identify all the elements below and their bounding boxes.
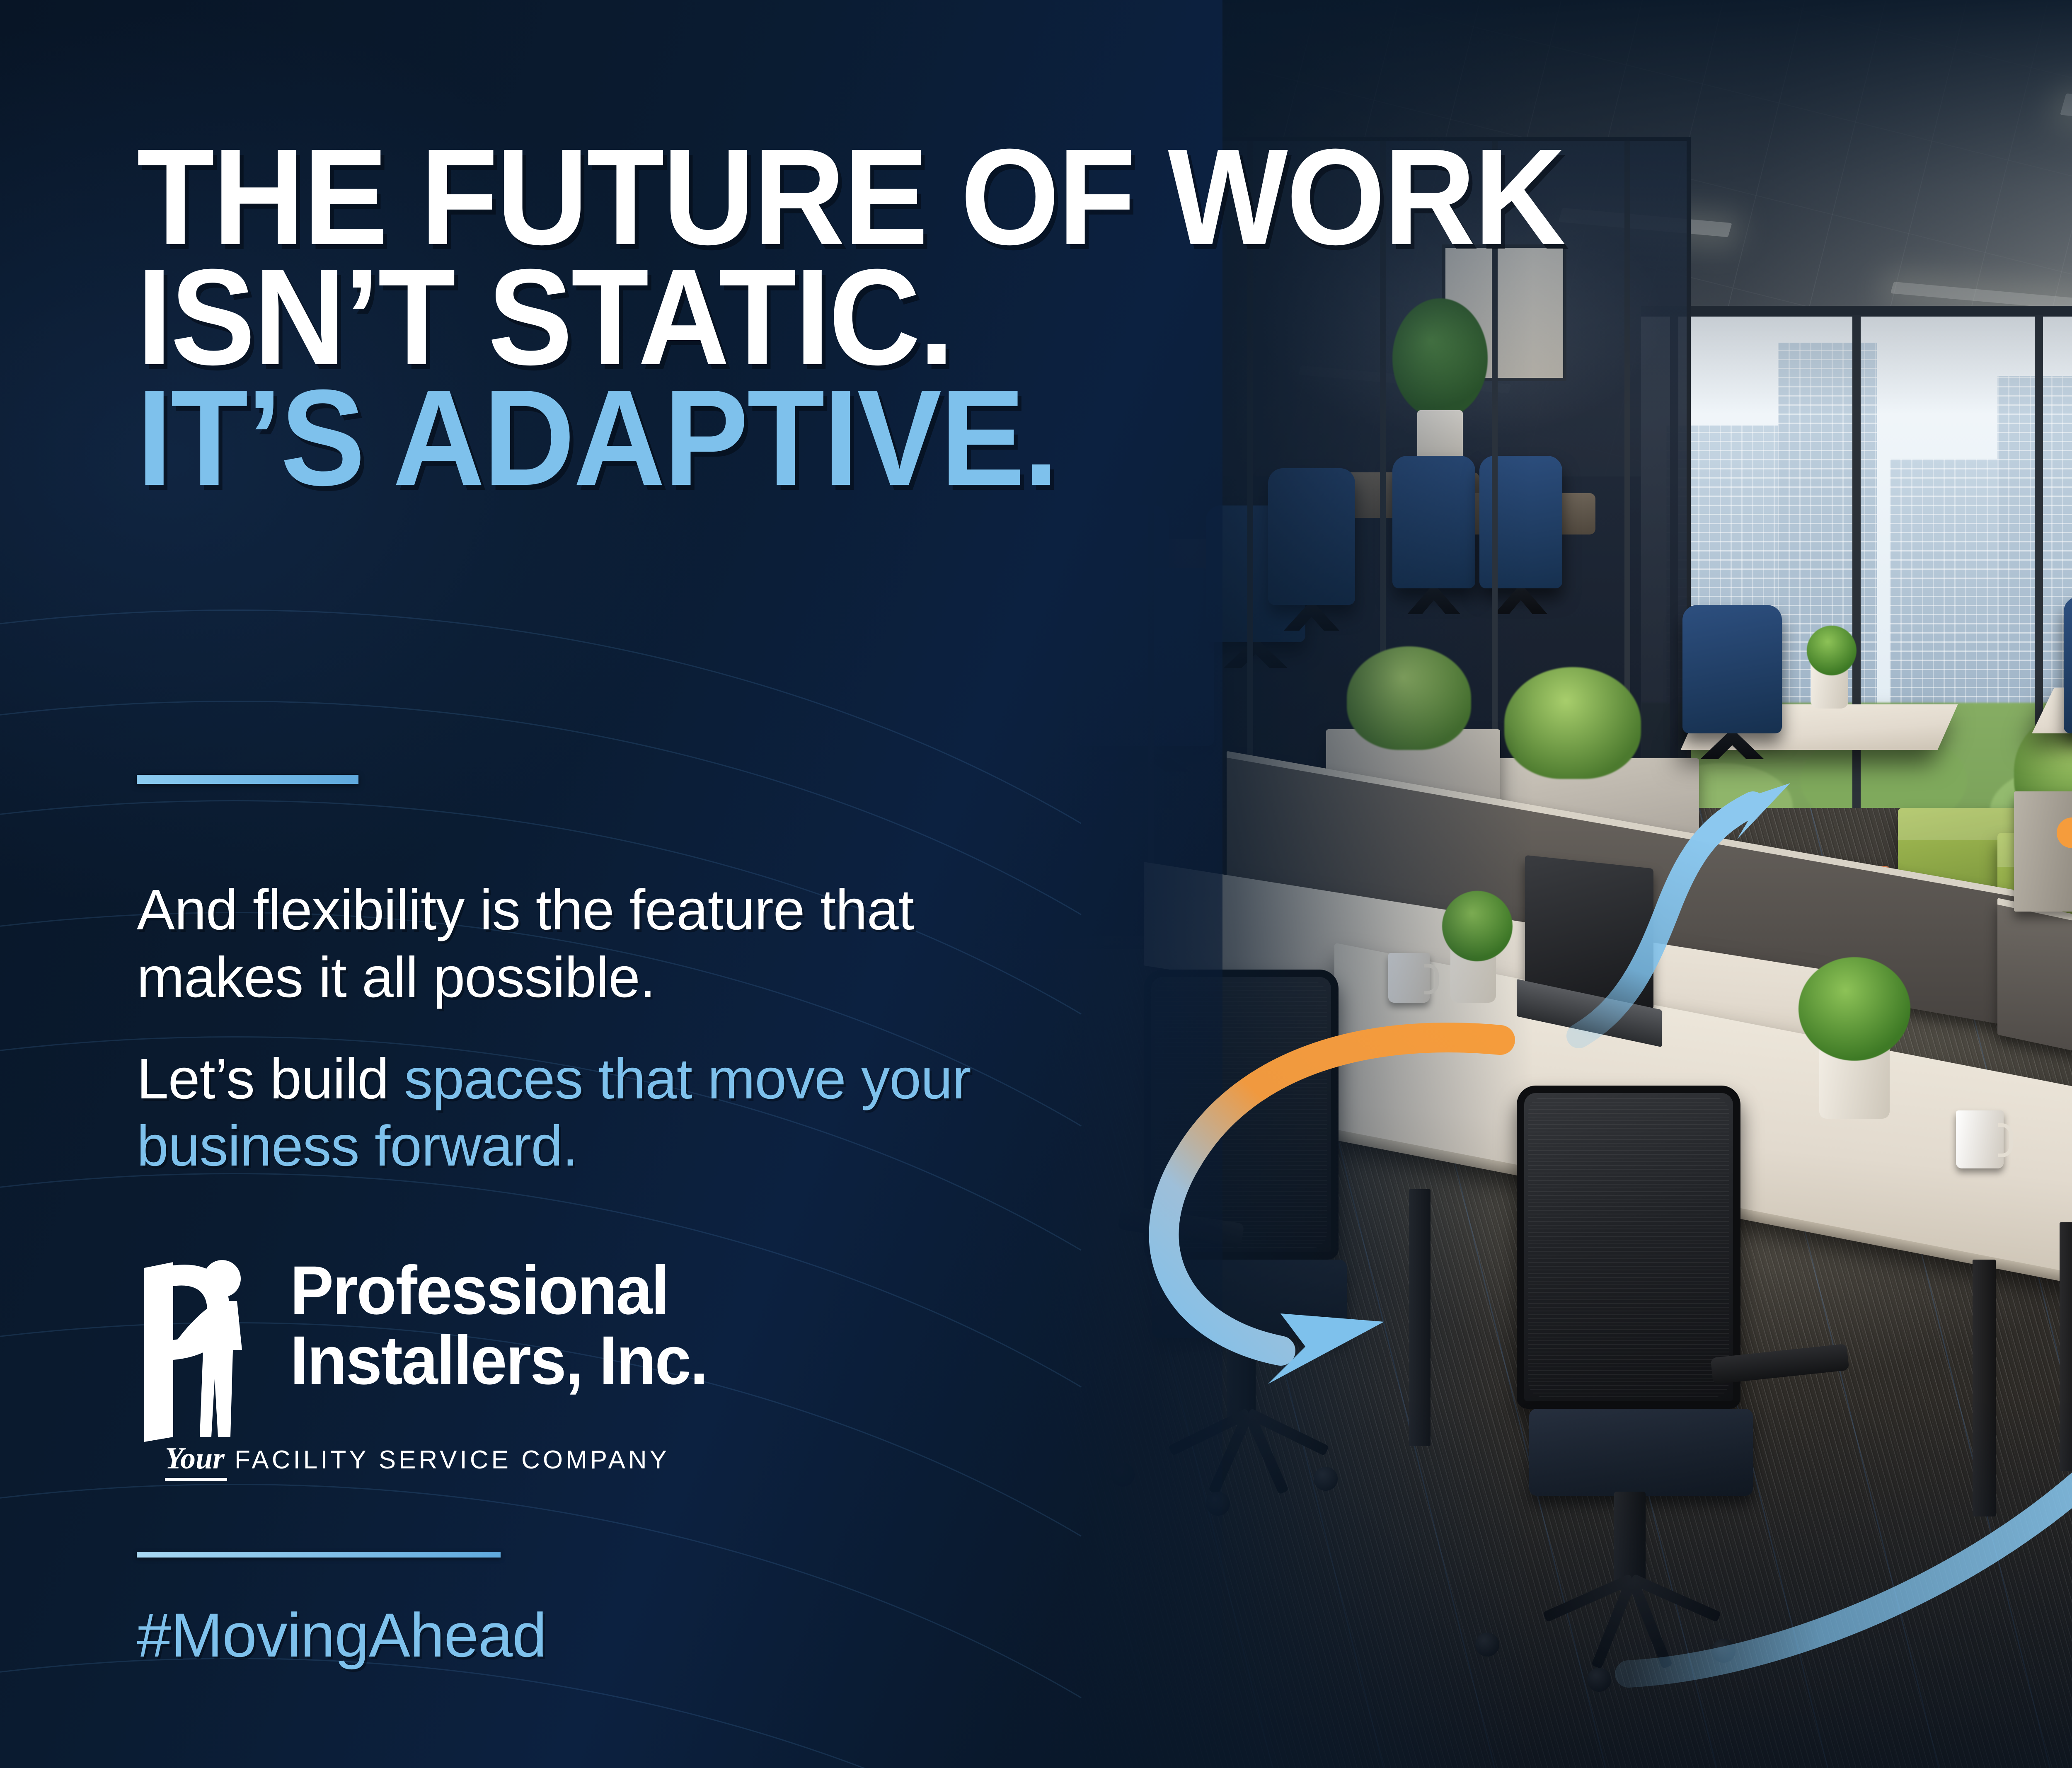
logo-tagline: YourFACILITY SERVICE COMPANY [165, 1441, 670, 1476]
body-paragraph-1: And flexibility is the feature that make… [137, 878, 914, 1009]
logo-name-line-1: Professional [290, 1255, 637, 1325]
body-copy: And flexibility is the feature that make… [137, 876, 1007, 1180]
logo-tagline-your: Your [165, 1441, 227, 1481]
bottom-divider-rule [137, 1552, 501, 1558]
headline-line-3: IT’S ADAPTIVE. [137, 377, 1139, 498]
body-paragraph-2: Let’s build spaces that move your busine… [137, 1045, 1007, 1180]
body-paragraph-2-plain: Let’s build [137, 1047, 404, 1111]
headline-line-1: THE FUTURE OF WORK [137, 137, 1139, 257]
accent-rule [137, 775, 358, 784]
text-content-column: THE FUTURE OF WORK ISN’T STATIC. IT’S AD… [137, 0, 1131, 1768]
hashtag: #MovingAhead [137, 1599, 547, 1671]
headline-line-2: ISN’T STATIC. [137, 257, 1139, 377]
headline: THE FUTURE OF WORK ISN’T STATIC. IT’S AD… [137, 137, 1139, 498]
logo-tagline-rest: FACILITY SERVICE COMPANY [235, 1446, 670, 1474]
pi-logo-mark [141, 1255, 278, 1445]
logo-name-line-2: Installers, Inc. [290, 1325, 637, 1396]
logo-wordmark: Professional Installers, Inc. [290, 1255, 637, 1396]
poster-canvas: THE FUTURE OF WORK ISN’T STATIC. IT’S AD… [0, 0, 2072, 1768]
